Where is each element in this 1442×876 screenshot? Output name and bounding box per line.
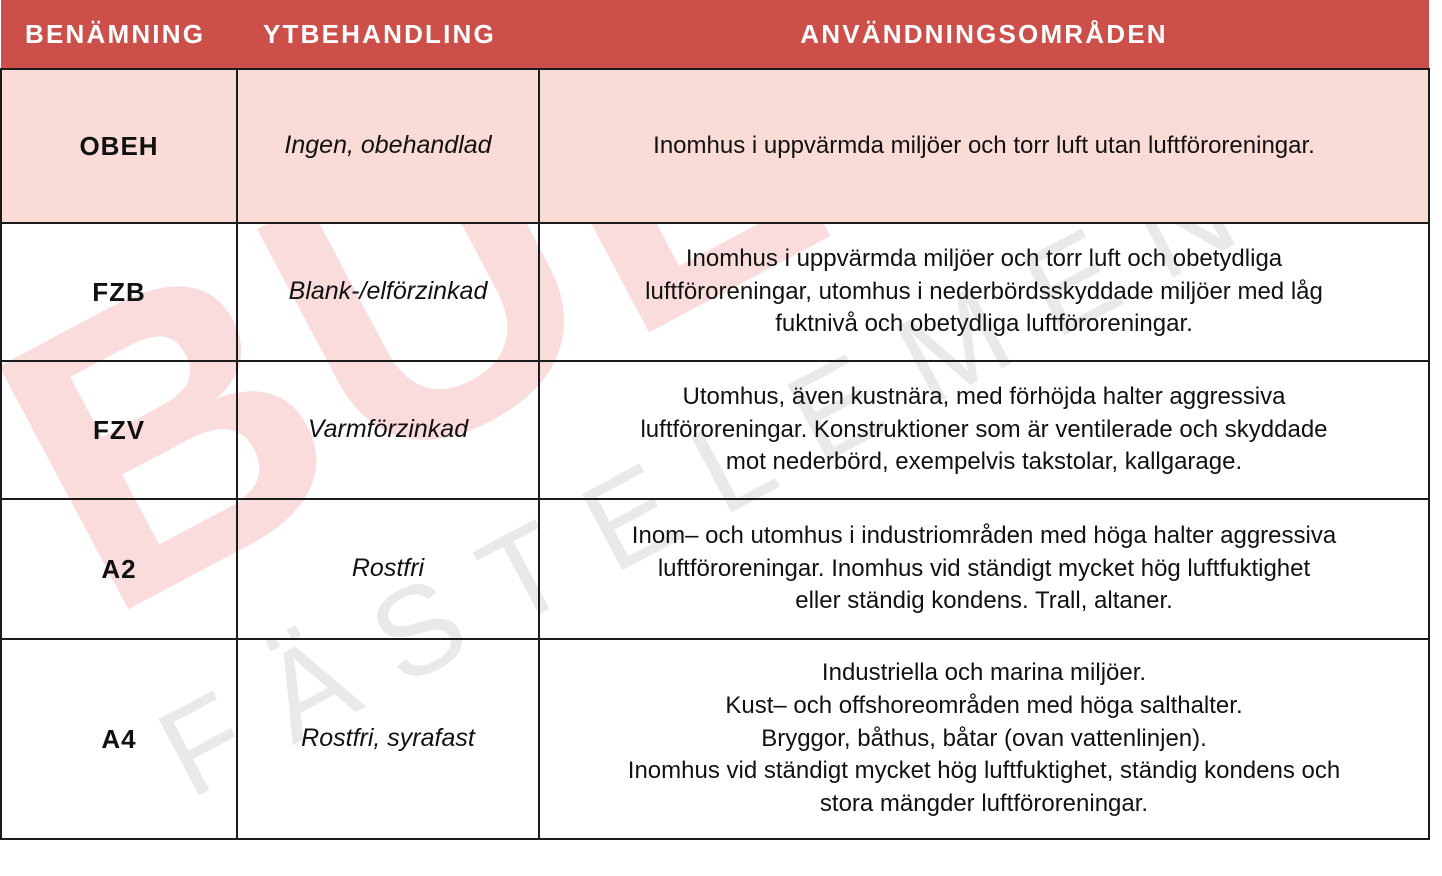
cell-ytbehandling-finish: Rostfri, syrafast (237, 639, 539, 839)
cell-ytbehandling-finish: Varmförzinkad (237, 361, 539, 499)
use-line: Kust– och offshoreområden med höga salth… (725, 692, 1242, 719)
cell-anvandningsomraden-text: Industriella och marina miljöer.Kust– oc… (539, 639, 1429, 839)
cell-ytbehandling-finish: Blank-/elförzinkad (237, 223, 539, 361)
use-line: Inom– och utomhus i industriområden med … (632, 522, 1336, 549)
cell-benamning-code: A4 (1, 639, 237, 839)
use-line: luftföroreningar, utomhus i nederbördssk… (645, 278, 1323, 305)
use-line: luftföroreningar. Inomhus vid ständigt m… (658, 555, 1310, 582)
column-header-anvandningsomraden: ANVÄNDNINGSOMRÅDEN (539, 0, 1429, 69)
table-row: A2RostfriInom– och utomhus i industriomr… (1, 499, 1429, 639)
column-header-benamning: BENÄMNING (1, 0, 237, 69)
cell-anvandningsomraden-text: Utomhus, även kustnära, med förhöjda hal… (539, 361, 1429, 499)
surface-treatment-table: BENÄMNING YTBEHANDLING ANVÄNDNINGSOMRÅDE… (0, 0, 1430, 840)
table-row: FZBBlank-/elförzinkadInomhus i uppvärmda… (1, 223, 1429, 361)
table-header-row: BENÄMNING YTBEHANDLING ANVÄNDNINGSOMRÅDE… (1, 0, 1429, 69)
cell-ytbehandling-finish: Rostfri (237, 499, 539, 639)
use-line: Inomhus i uppvärmda miljöer och torr luf… (653, 132, 1315, 159)
use-line: eller ständig kondens. Trall, altaner. (795, 587, 1173, 614)
table-row: A4Rostfri, syrafastIndustriella och mari… (1, 639, 1429, 839)
use-line: Inomhus i uppvärmda miljöer och torr luf… (686, 245, 1282, 272)
cell-benamning-code: A2 (1, 499, 237, 639)
surface-treatment-table-container: BENÄMNING YTBEHANDLING ANVÄNDNINGSOMRÅDE… (0, 0, 1442, 840)
use-line: Industriella och marina miljöer. (822, 659, 1146, 686)
cell-anvandningsomraden-text: Inom– och utomhus i industriområden med … (539, 499, 1429, 639)
use-line: Inomhus vid ständigt mycket hög luftfukt… (628, 757, 1340, 784)
table-header: BENÄMNING YTBEHANDLING ANVÄNDNINGSOMRÅDE… (1, 0, 1429, 69)
page-root: BULTAB FÄSTELEMENT BENÄMNING YTBEHANDLIN… (0, 0, 1442, 876)
cell-anvandningsomraden-text: Inomhus i uppvärmda miljöer och torr luf… (539, 69, 1429, 223)
table-row: OBEHIngen, obehandladInomhus i uppvärmda… (1, 69, 1429, 223)
use-line: fuktnivå och obetydliga luftföroreningar… (775, 310, 1193, 337)
table-row: FZVVarmförzinkadUtomhus, även kustnära, … (1, 361, 1429, 499)
use-line: mot nederbörd, exempelvis takstolar, kal… (726, 448, 1242, 475)
cell-benamning-code: FZV (1, 361, 237, 499)
use-line: Bryggor, båthus, båtar (ovan vattenlinje… (761, 725, 1207, 752)
cell-benamning-code: FZB (1, 223, 237, 361)
cell-ytbehandling-finish: Ingen, obehandlad (237, 69, 539, 223)
table-body: OBEHIngen, obehandladInomhus i uppvärmda… (1, 69, 1429, 839)
use-line: stora mängder luftföroreningar. (820, 790, 1148, 817)
cell-anvandningsomraden-text: Inomhus i uppvärmda miljöer och torr luf… (539, 223, 1429, 361)
cell-benamning-code: OBEH (1, 69, 237, 223)
column-header-ytbehandling: YTBEHANDLING (237, 0, 539, 69)
use-line: luftföroreningar. Konstruktioner som är … (640, 416, 1327, 443)
use-line: Utomhus, även kustnära, med förhöjda hal… (683, 383, 1286, 410)
